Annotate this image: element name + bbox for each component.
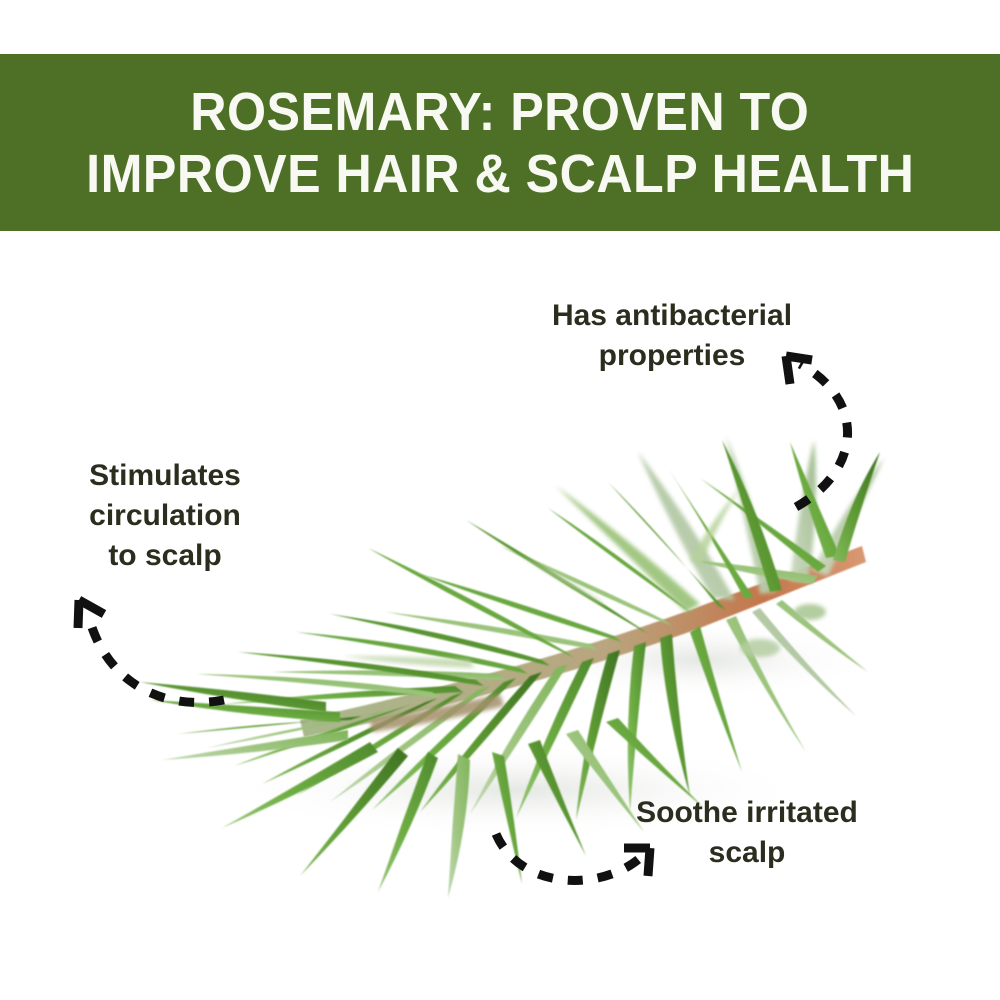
annotation-circulation-line-3: to scalp [40,536,290,576]
infographic-page: ROSEMARY: PROVEN TO IMPROVE HAIR & SCALP… [0,0,1000,1000]
annotation-antibacterial: Has antibacterial properties [497,296,847,376]
annotation-antibacterial-line-2: properties [497,336,847,376]
annotation-circulation: Stimulates circulation to scalp [40,456,290,576]
annotation-circulation-line-2: circulation [40,496,290,536]
annotation-soothe-line-1: Soothe irritated [592,793,902,833]
annotation-antibacterial-line-1: Has antibacterial [497,296,847,336]
annotation-soothe: Soothe irritated scalp [592,793,902,873]
annotation-circulation-line-1: Stimulates [40,456,290,496]
annotation-soothe-line-2: scalp [592,833,902,873]
